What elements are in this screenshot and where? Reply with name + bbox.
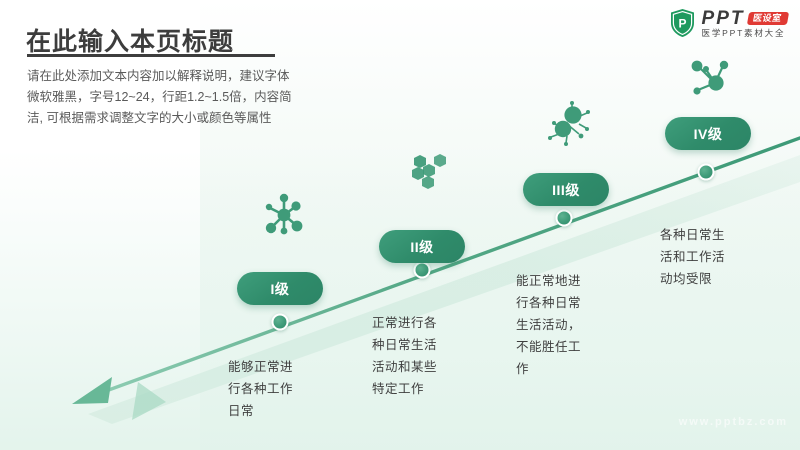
hexagon-molecule-icon	[403, 148, 449, 194]
description-line: 活动和某些	[372, 356, 437, 378]
description-line: 各种日常生	[660, 224, 725, 246]
description-line: 动均受限	[660, 268, 725, 290]
level-badge-2[interactable]: II级	[379, 230, 465, 263]
description-line: 特定工作	[372, 378, 437, 400]
description-line: 行各种工作	[228, 378, 293, 400]
description-line: 正常进行各	[372, 312, 437, 334]
level-badge-4[interactable]: IV级	[665, 117, 751, 150]
molecule-cluster-icon	[261, 192, 307, 238]
description-line: 不能胜任工	[516, 336, 581, 358]
slide-canvas: 在此输入本页标题 请在此处添加文本内容加以解释说明，建议字体 微软雅黑，字号12…	[0, 0, 800, 450]
watermark: www.pptbz.com	[679, 416, 788, 428]
description-line: 作	[516, 358, 581, 380]
level-badge-1[interactable]: I级	[237, 272, 323, 305]
description-line: 能够正常进	[228, 356, 293, 378]
timeline-node[interactable]	[698, 164, 715, 181]
timeline-node[interactable]	[414, 262, 431, 279]
description-line: 生活活动，	[516, 314, 581, 336]
description-line: 能正常地进	[516, 270, 581, 292]
level-badge-3[interactable]: III级	[523, 173, 609, 206]
node-link-molecule-icon	[687, 55, 733, 101]
description-line: 种日常生活	[372, 334, 437, 356]
timeline-arrowhead	[72, 377, 112, 404]
level-description-2: 正常进行各 种日常生活 活动和某些 特定工作	[372, 312, 437, 400]
description-line: 日常	[228, 400, 293, 422]
level-description-1: 能够正常进 行各种工作 日常	[228, 356, 293, 422]
description-line: 活和工作活	[660, 246, 725, 268]
level-description-4: 各种日常生 活和工作活 动均受限	[660, 224, 725, 290]
timeline-node[interactable]	[272, 314, 289, 331]
timeline-node[interactable]	[556, 210, 573, 227]
two-atom-icon	[545, 100, 591, 146]
description-line: 行各种日常	[516, 292, 581, 314]
level-description-3: 能正常地进 行各种日常 生活活动， 不能胜任工 作	[516, 270, 581, 380]
